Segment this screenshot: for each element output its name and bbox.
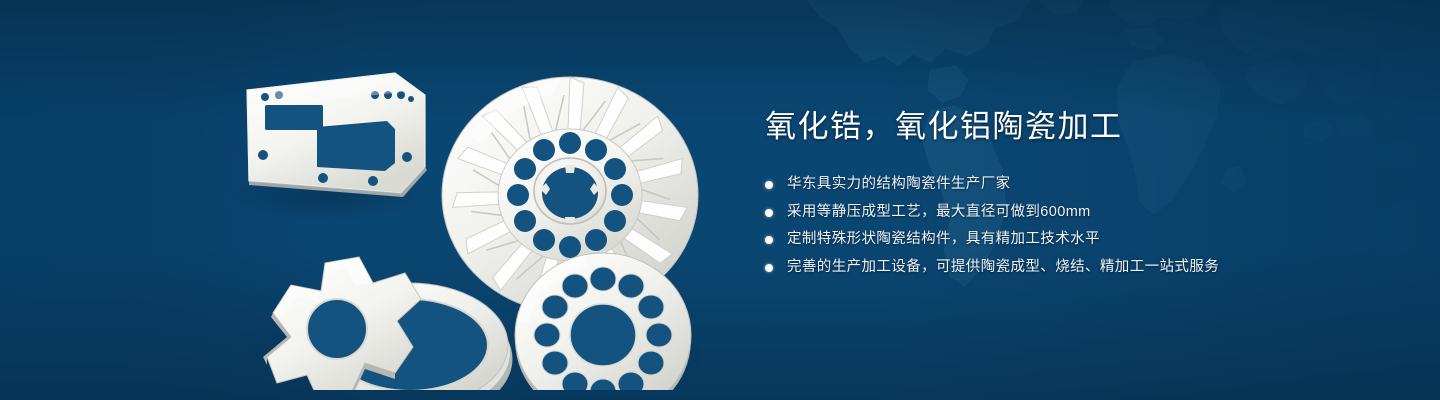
background-top-shade — [0, 0, 1440, 120]
bullet-dot-icon — [765, 209, 773, 217]
bullet-dot-icon — [765, 181, 773, 189]
list-item: 完善的生产加工设备，可提供陶瓷成型、烧结、精加工一站式服务 — [765, 256, 1325, 279]
list-item: 华东具实力的结构陶瓷件生产厂家 — [765, 173, 1325, 196]
list-item-label: 采用等静压成型工艺，最大直径可做到600mm — [787, 204, 1091, 220]
feature-list: 华东具实力的结构陶瓷件生产厂家 采用等静压成型工艺，最大直径可做到600mm 定… — [765, 173, 1325, 279]
hero-banner: 氧化锆，氧化铝陶瓷加工 华东具实力的结构陶瓷件生产厂家 采用等静压成型工艺，最大… — [0, 0, 1440, 400]
banner-copy: 氧化锆，氧化铝陶瓷加工 华东具实力的结构陶瓷件生产厂家 采用等静压成型工艺，最大… — [765, 108, 1325, 284]
bullet-dot-icon — [765, 264, 773, 272]
list-item-label: 定制特殊形状陶瓷结构件，具有精加工技术水平 — [787, 231, 1100, 247]
list-item: 定制特殊形状陶瓷结构件，具有精加工技术水平 — [765, 228, 1325, 251]
ceramic-cross-plate-part — [263, 257, 421, 390]
ceramic-plate-part — [247, 73, 427, 197]
page-title: 氧化锆，氧化铝陶瓷加工 — [765, 108, 1325, 147]
list-item-label: 华东具实力的结构陶瓷件生产厂家 — [787, 176, 1011, 192]
bullet-dot-icon — [765, 236, 773, 244]
list-item: 采用等静压成型工艺，最大直径可做到600mm — [765, 201, 1325, 224]
list-item-label: 完善的生产加工设备，可提供陶瓷成型、烧结、精加工一站式服务 — [787, 259, 1219, 275]
product-photo-group — [225, 35, 700, 390]
